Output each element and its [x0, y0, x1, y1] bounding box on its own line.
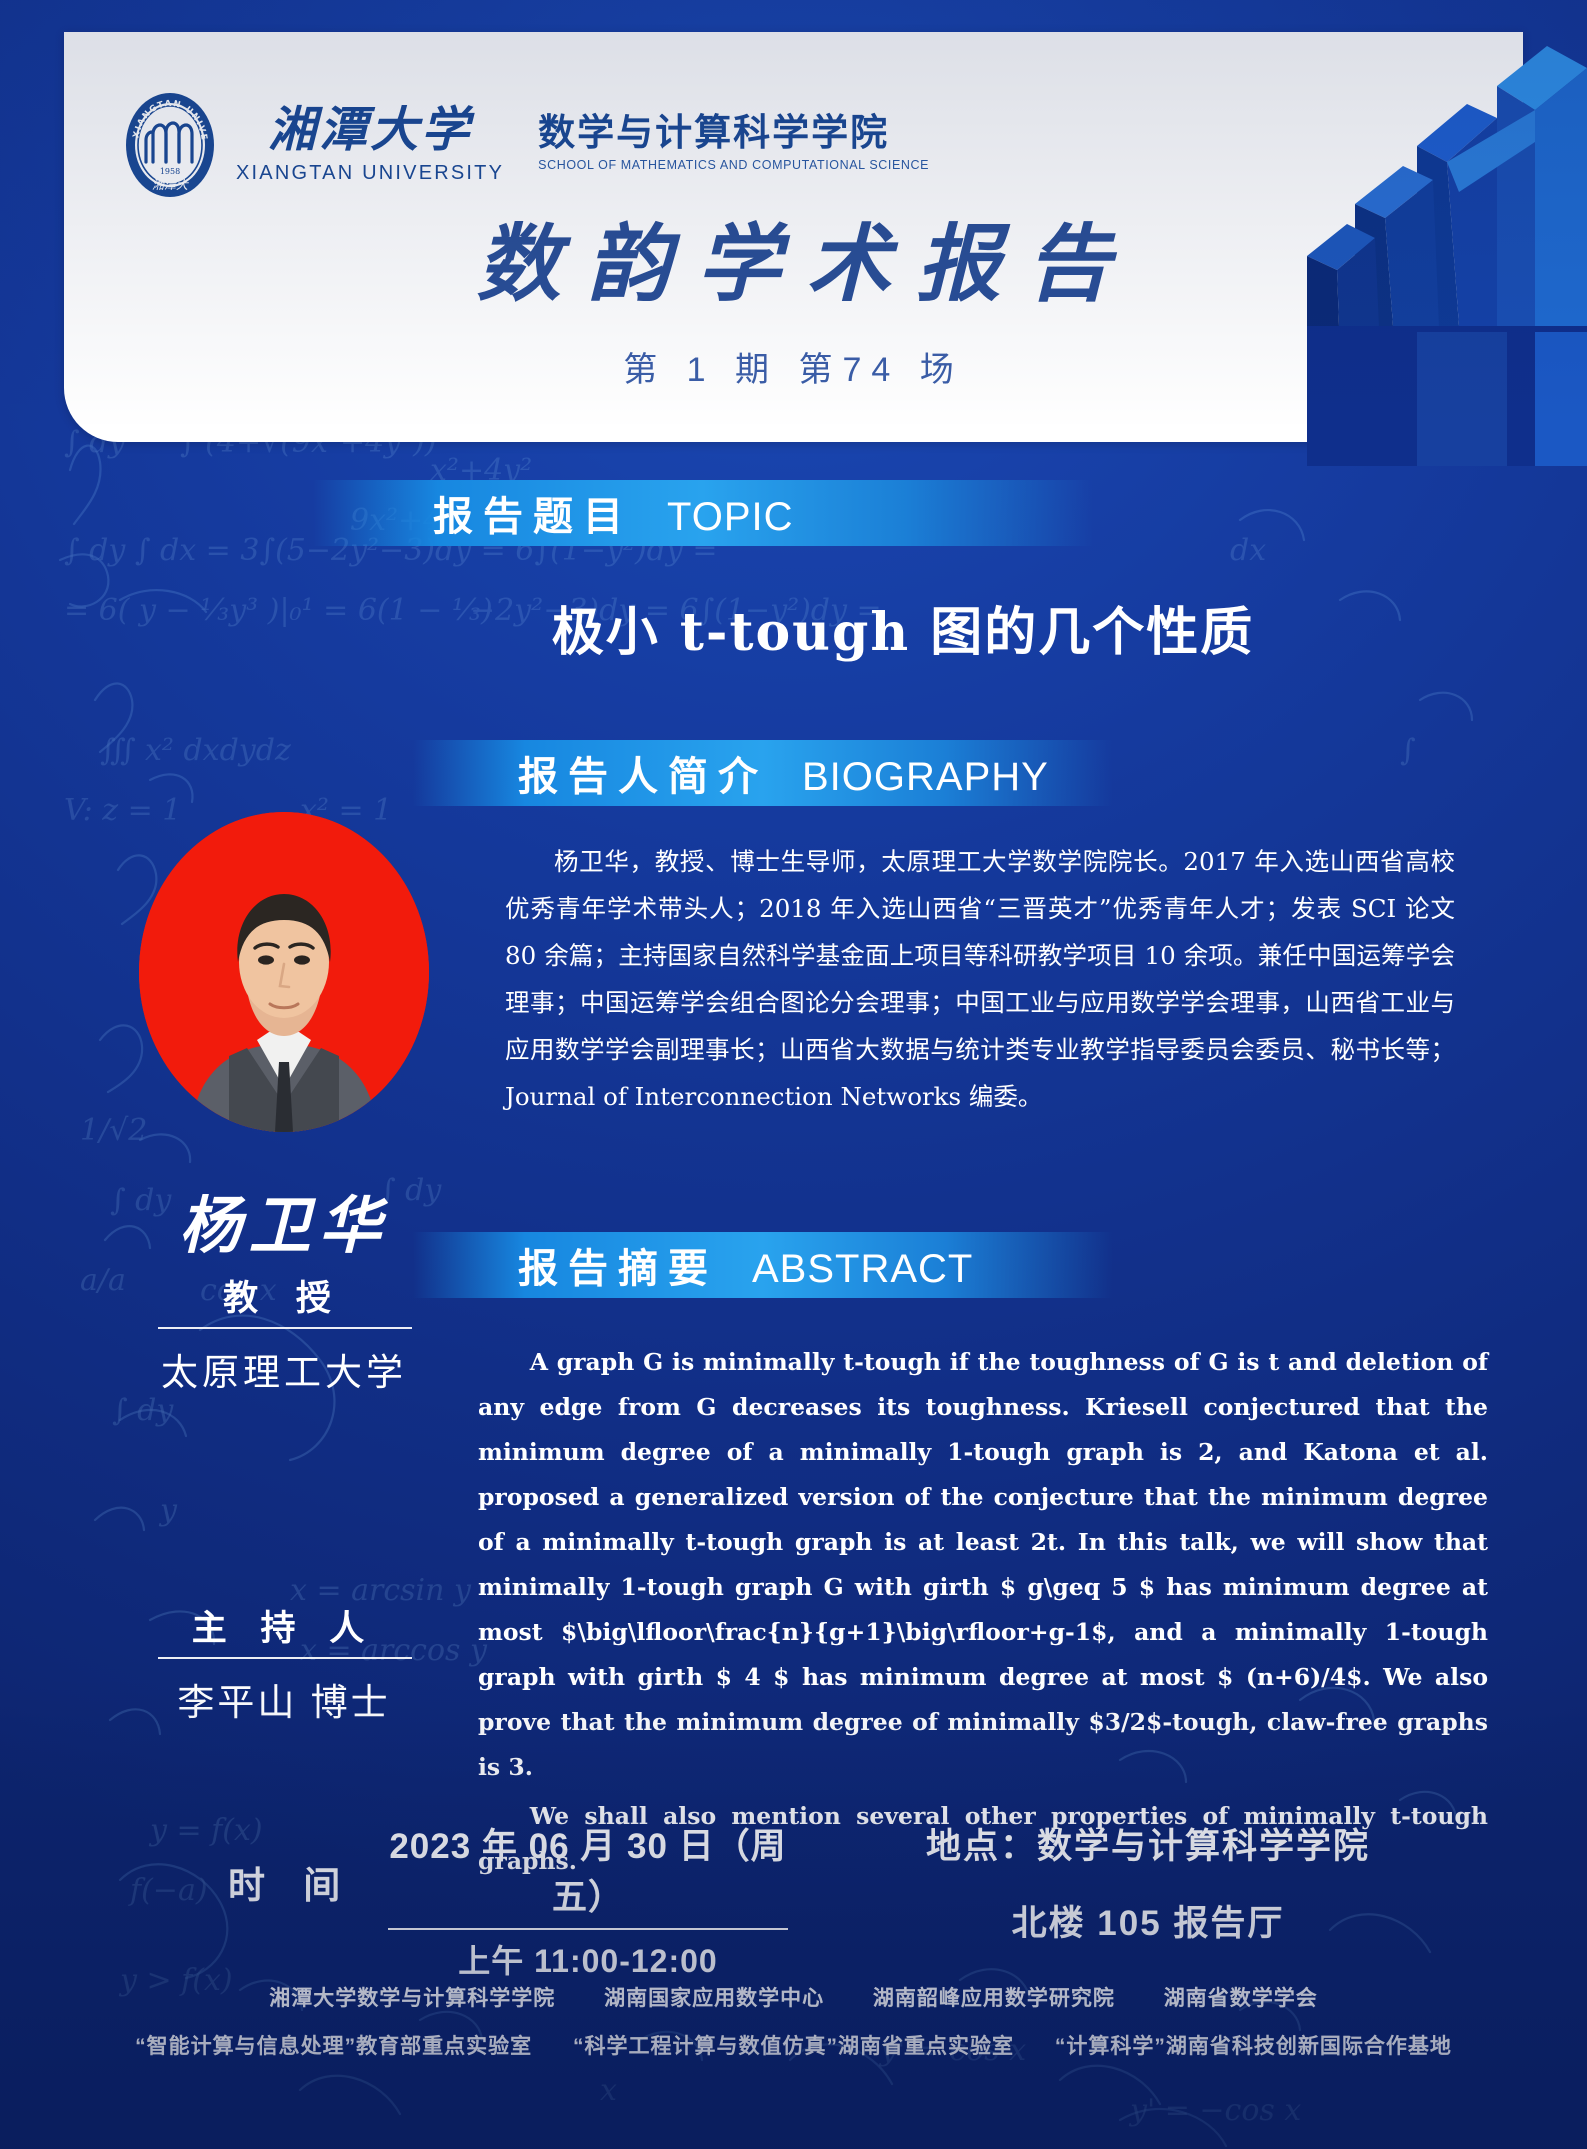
institution-logo: 1958 湘潭大 XIANGTAN UNIVERSITY 湘潭大学 XIANGT…: [122, 90, 929, 200]
svg-text:y: y: [158, 1493, 178, 1528]
topic-header-cn: 报告题目: [433, 484, 633, 542]
svg-text:dx: dx: [1230, 533, 1266, 568]
event-hours: 上午 11:00-12:00: [378, 1936, 798, 1982]
host-divider: [158, 1657, 412, 1659]
time-divider: [388, 1928, 788, 1930]
school-name-block: 数学与计算科学学院 SCHOOL OF MATHEMATICS AND COMP…: [538, 112, 929, 179]
event-date: 2023 年 06 月 30 日（周五）: [378, 1818, 798, 1920]
university-crest-icon: 1958 湘潭大 XIANGTAN UNIVERSITY: [122, 90, 218, 200]
svg-text:1/√2: 1/√2: [80, 1113, 147, 1148]
speaker-photo-icon: [139, 812, 429, 1132]
topic-section-header: 报告题目 TOPIC: [313, 480, 1093, 546]
event-room: 北楼 105 报告厅: [838, 1895, 1458, 1946]
svg-text:f(−a): f(−a): [128, 1873, 208, 1908]
time-label: 时 间: [228, 1855, 354, 1909]
organizer-item: 湖南省数学学会: [1164, 1982, 1318, 2012]
host-label: 主 持 人: [84, 1600, 484, 1651]
university-name-en: XIANGTAN UNIVERSITY: [236, 162, 504, 185]
organizer-item: “科学工程计算与数值仿真”湖南省重点实验室: [573, 2030, 1014, 2060]
header-plate: 1958 湘潭大 XIANGTAN UNIVERSITY 湘潭大学 XIANGT…: [64, 32, 1523, 442]
organizer-item: 湖南韶峰应用数学研究院: [873, 1982, 1115, 2012]
organizer-item: “计算科学”湖南省科技创新国际合作基地: [1055, 2030, 1452, 2060]
svg-text:∫: ∫: [1400, 733, 1416, 768]
organizer-item: “智能计算与信息处理”教育部重点实验室: [135, 2030, 532, 2060]
abstract-body: A graph G is minimally t-tough if the to…: [478, 1340, 1488, 1884]
biography-section-header: 报告人简介 BIOGRAPHY: [413, 740, 1113, 806]
time-block: 2023 年 06 月 30 日（周五） 上午 11:00-12:00: [378, 1818, 798, 1982]
svg-text:y' = −cos x: y' = −cos x: [1128, 2093, 1301, 2128]
series-title: 数韵学术报告: [64, 222, 1523, 306]
event-venue: 地点：数学与计算科学学院: [838, 1818, 1458, 1869]
portrait-oval-frame: [139, 812, 429, 1132]
biography-header-cn: 报告人简介: [518, 744, 768, 802]
biography-header-en: BIOGRAPHY: [802, 755, 1049, 800]
abstract-header-en: ABSTRACT: [752, 1247, 973, 1292]
seminar-poster: ∫ dy ∫ (4+√(9x²+4y²)) ∫ dy ∫ dx = 3∫(5−2…: [0, 0, 1587, 2149]
svg-text:湘潭大: 湘潭大: [152, 178, 189, 192]
svg-text:∫ dy: ∫ dy: [112, 1393, 174, 1428]
organizer-item: 湘潭大学数学与计算科学学院: [269, 1982, 555, 2012]
host-name: 李平山 博士: [84, 1672, 484, 1726]
university-name-cn: 湘潭大学: [268, 106, 472, 154]
svg-text:1958: 1958: [160, 167, 180, 176]
abstract-header-cn: 报告摘要: [518, 1236, 718, 1294]
topic-header-en: TOPIC: [667, 495, 794, 540]
svg-text:x: x: [600, 2073, 617, 2108]
organizer-row-primary: 湘潭大学数学与计算科学学院 湖南国家应用数学中心 湖南韶峰应用数学研究院 湖南省…: [64, 1982, 1523, 2012]
speaker-divider: [158, 1327, 412, 1329]
speaker-portrait: [139, 812, 429, 1132]
series-number: 第 1 期 第74 场: [64, 342, 1523, 391]
abstract-section-header: 报告摘要 ABSTRACT: [413, 1232, 1113, 1298]
svg-text:∭ x² dxdydz: ∭ x² dxdydz: [100, 733, 291, 768]
school-name-en: SCHOOL OF MATHEMATICS AND COMPUTATIONAL …: [538, 158, 929, 172]
talk-title: 极小 t-tough 图的几个性质: [313, 590, 1493, 665]
svg-text:y = f(x): y = f(x): [148, 1813, 263, 1848]
biography-text: 杨卫华，教授、博士生导师，太原理工大学数学院院长。2017 年入选山西省高校优秀…: [505, 838, 1455, 1120]
abstract-paragraph-1: A graph G is minimally t-tough if the to…: [478, 1340, 1488, 1790]
place-block: 地点：数学与计算科学学院 北楼 105 报告厅: [838, 1818, 1458, 1946]
university-name-block: 湘潭大学 XIANGTAN UNIVERSITY: [236, 106, 504, 185]
organizer-row-secondary: “智能计算与信息处理”教育部重点实验室 “科学工程计算与数值仿真”湖南省重点实验…: [64, 2030, 1523, 2060]
school-name-cn: 数学与计算科学学院: [538, 112, 929, 153]
organizer-item: 湖南国家应用数学中心: [604, 1982, 824, 2012]
speaker-affiliation: 太原理工大学: [84, 1342, 484, 1396]
